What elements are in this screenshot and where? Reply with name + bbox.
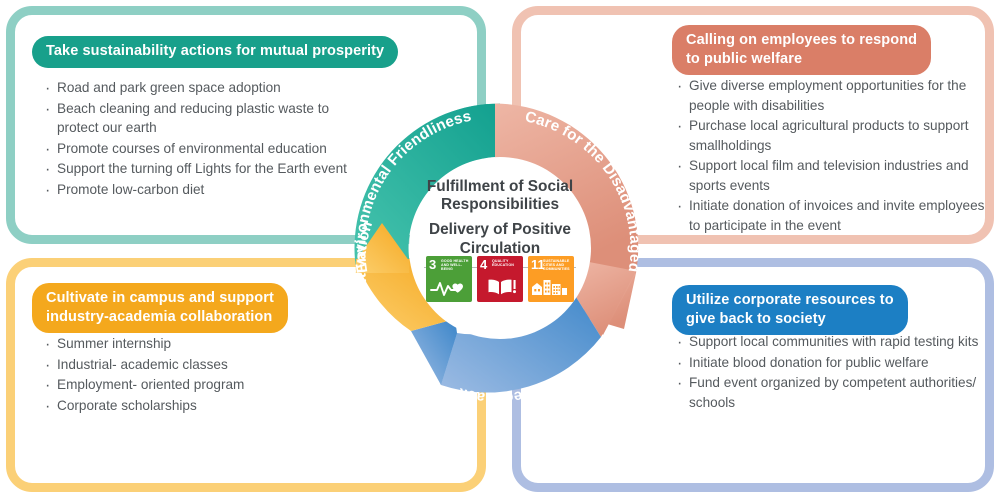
list-item: Initiate blood donation for public welfa… (676, 353, 988, 373)
list-item: Support the turning off Lights for the E… (44, 159, 374, 179)
city-buildings-icon (528, 275, 574, 299)
list-item: Employment- oriented program (44, 375, 374, 395)
badge-take-sustainability-actions: Take sustainability actions for mutual p… (32, 36, 398, 68)
list-item: Purchase local agricultural products to … (676, 116, 986, 155)
list-item: Beach cleaning and reducing plastic wast… (44, 99, 374, 138)
bullet-list-bottom-right: Support local communities with rapid tes… (676, 332, 988, 413)
bullet-list-bottom-left: Summer internshipIndustrial- academic cl… (44, 334, 374, 416)
list-item: Support local communities with rapid tes… (676, 332, 988, 352)
heartbeat-icon (426, 275, 472, 299)
list-item: Summer internship (44, 334, 374, 354)
list-item: Initiate donation of invoices and invite… (676, 196, 986, 235)
list-item: Industrial- academic classes (44, 355, 374, 375)
sdg-3-caption: Good health and well-being (441, 259, 470, 272)
badge-utilize-corporate-resources: Utilize corporate resources to give back… (672, 285, 908, 335)
infographic-canvas: Take sustainability actions for mutual p… (0, 0, 1000, 498)
open-book-icon (477, 275, 523, 299)
list-item: Give diverse employment opportunities fo… (676, 76, 986, 115)
sdg-11-caption: Sustainable cities and communities (543, 259, 572, 272)
list-item: Promote courses of environmental educati… (44, 139, 374, 159)
bullet-list-top-left: Road and park green space adoptionBeach … (44, 78, 374, 200)
center-line-1: Fulfillment of Social (400, 178, 600, 196)
sdg-icon-row: 3 Good health and well-being 4 Quality e… (421, 256, 579, 302)
list-item: Fund event organized by competent author… (676, 373, 988, 412)
sdg-4-number: 4 (480, 258, 487, 271)
sdg-4-quality-education-icon: 4 Quality education (477, 256, 523, 302)
badge-cultivate-in-campus: Cultivate in campus and support industry… (32, 283, 288, 333)
bullet-list-top-right: Give diverse employment opportunities fo… (676, 76, 986, 237)
list-item: Support local film and television indust… (676, 156, 986, 195)
list-item: Promote low-carbon diet (44, 180, 374, 200)
sdg-3-good-health-and-well-being-icon: 3 Good health and well-being (426, 256, 472, 302)
center-line-3: Delivery of Positive (400, 221, 600, 239)
list-item: Road and park green space adoption (44, 78, 374, 98)
center-line-2: Responsibilities (400, 196, 600, 214)
wheel-center-text: Fulfillment of Social Responsibilities D… (400, 178, 600, 268)
badge-calling-on-employees: Calling on employees to respond to publi… (672, 25, 931, 75)
sdg-11-sustainable-cities-and-communities-icon: 11 Sustainable cities and communities (528, 256, 574, 302)
sdg-4-caption: Quality education (492, 259, 521, 267)
sdg-3-number: 3 (429, 258, 436, 271)
center-line-4: Circulation (400, 240, 600, 258)
list-item: Corporate scholarships (44, 396, 374, 416)
